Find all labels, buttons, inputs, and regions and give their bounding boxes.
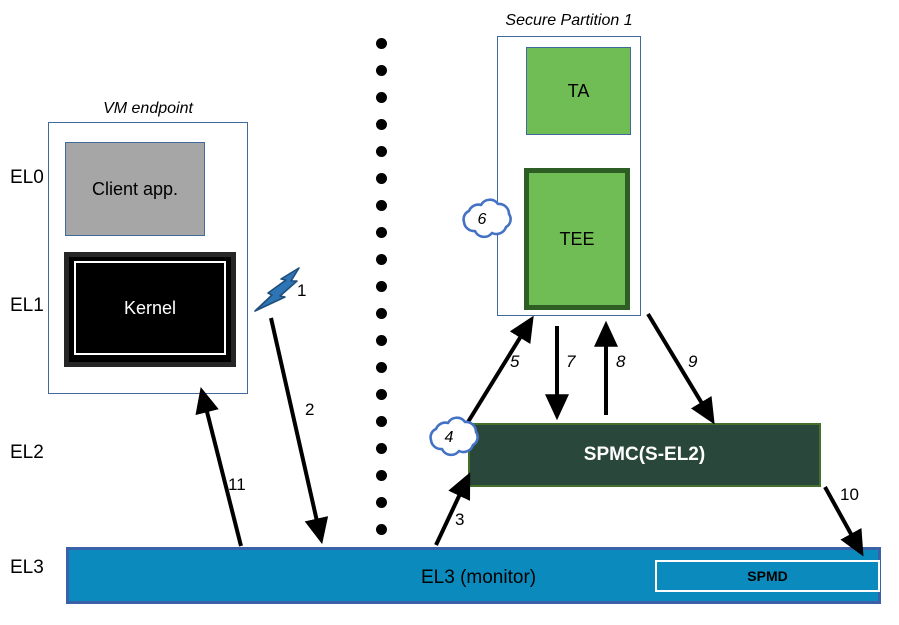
arrow-label-10: 10 xyxy=(840,485,859,505)
arrow-label-7: 7 xyxy=(566,352,575,372)
arrow-label-1: 1 xyxy=(297,281,306,301)
arrow-label-9: 9 xyxy=(688,352,697,372)
el3-monitor-label: EL3 (monitor) xyxy=(421,567,536,589)
callout-6: 6 xyxy=(460,198,504,242)
callout-4-number: 4 xyxy=(427,416,471,460)
arrow-step-5 xyxy=(468,320,531,422)
level-label-el1: EL1 xyxy=(10,296,44,315)
secure-partition-title: Secure Partition 1 xyxy=(489,12,649,30)
level-label-el2: EL2 xyxy=(10,443,44,462)
vm-endpoint-title: VM endpoint xyxy=(48,100,248,118)
callout-6-number: 6 xyxy=(460,198,504,242)
arrow-label-11: 11 xyxy=(228,475,246,495)
arrow-step-9 xyxy=(648,314,712,420)
arrow-step-2 xyxy=(271,318,321,539)
diagram-canvas: EL0 EL1 EL2 EL3 VM endpoint Client app. … xyxy=(0,0,899,625)
level-label-el0: EL0 xyxy=(10,168,44,187)
arrow-label-5: 5 xyxy=(510,352,519,372)
callout-4: 4 xyxy=(427,416,471,460)
tee-box: TEE xyxy=(524,168,630,310)
spmc-box: SPMC(S-EL2) xyxy=(468,423,821,487)
level-label-el3: EL3 xyxy=(10,558,44,577)
spmd-box: SPMD xyxy=(655,560,880,592)
lightning-bolt-icon xyxy=(255,268,299,311)
kernel-box: Kernel xyxy=(74,261,226,355)
arrow-label-3: 3 xyxy=(455,510,464,530)
ta-box: TA xyxy=(526,47,631,135)
el3-monitor-bar: EL3 (monitor) SPMD xyxy=(66,547,881,604)
client-app-box: Client app. xyxy=(65,142,205,236)
world-divider-dotted-line xyxy=(376,38,388,538)
arrow-label-8: 8 xyxy=(616,352,625,372)
arrow-label-2: 2 xyxy=(305,400,314,420)
arrow-step-11 xyxy=(202,392,241,546)
